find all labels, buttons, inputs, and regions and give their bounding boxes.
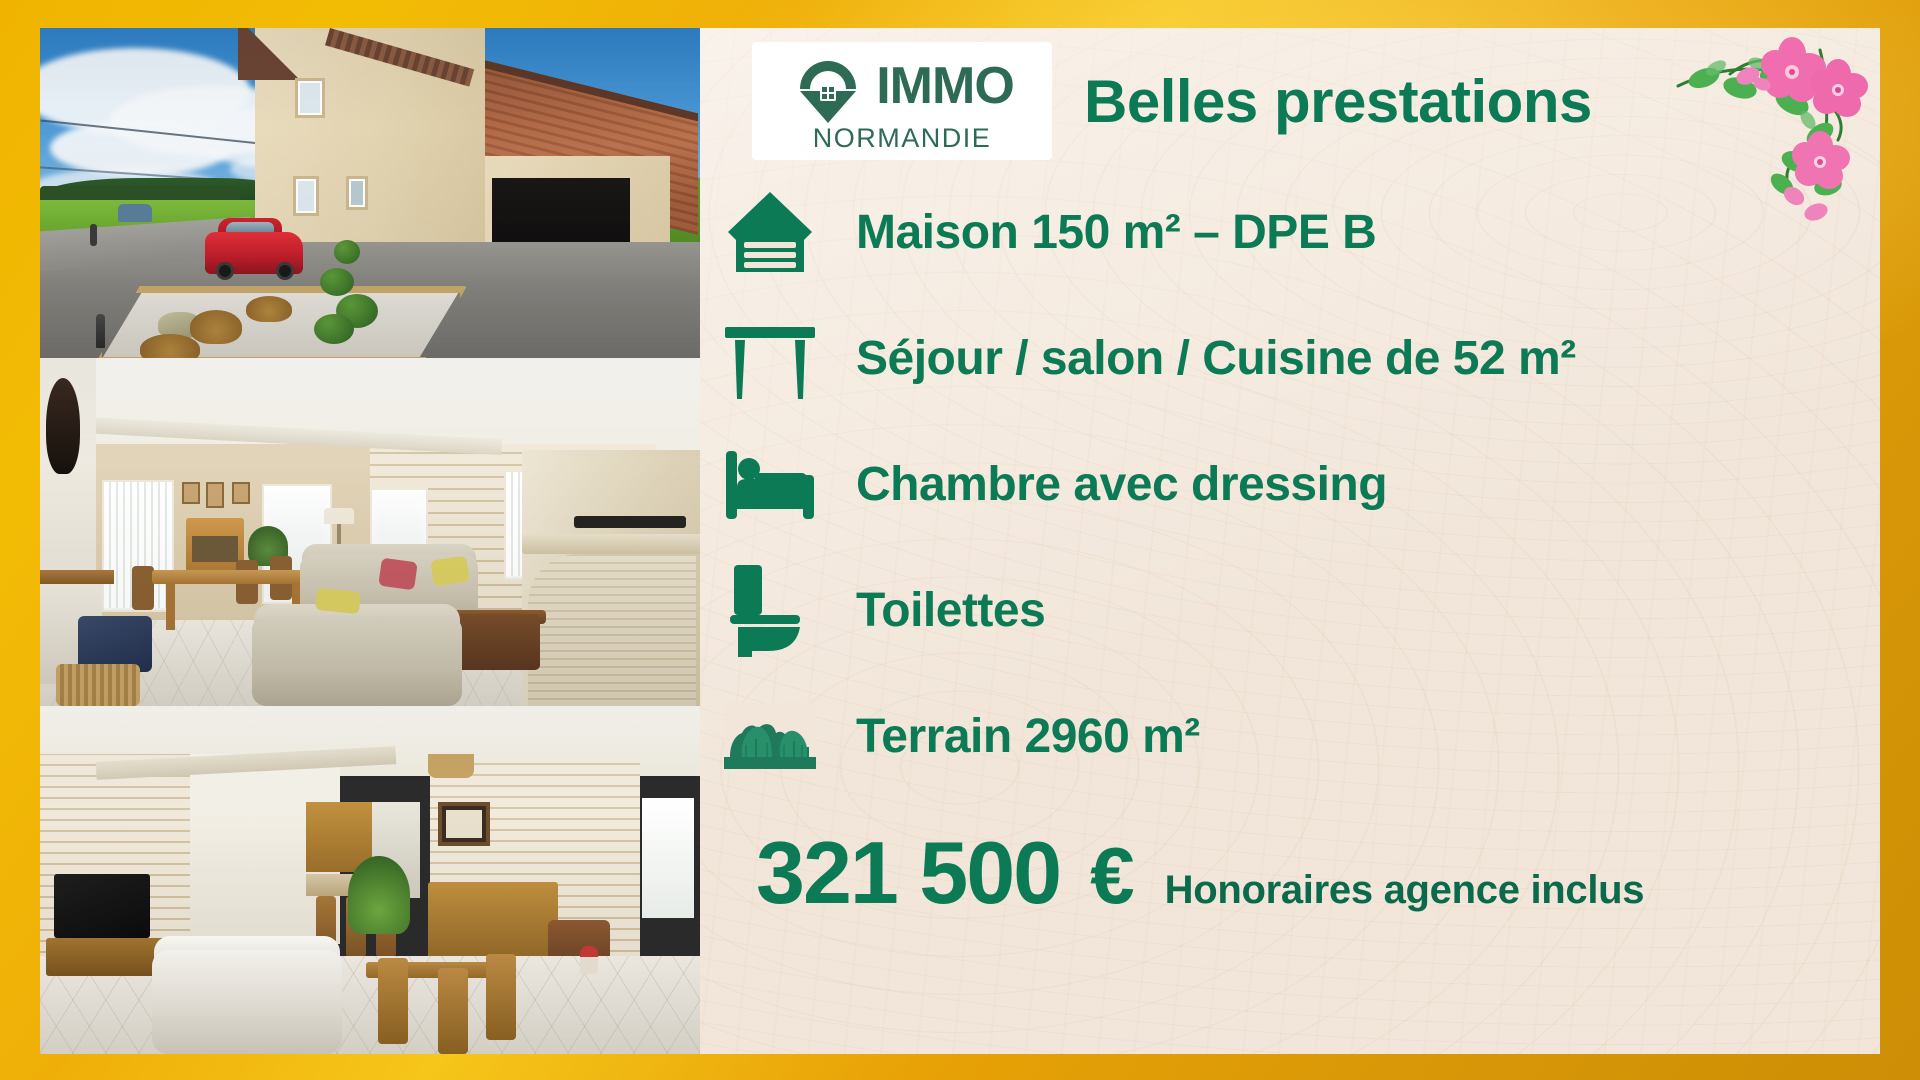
feature-label: Séjour / salon / Cuisine de 52 m²	[856, 331, 1576, 386]
photo-shading	[40, 28, 700, 358]
currency-symbol: €	[1090, 830, 1135, 922]
toilet-icon	[718, 562, 822, 658]
feature-row-land: Terrain 2960 m²	[718, 688, 1880, 784]
page-title: Belles prestations	[1084, 67, 1592, 136]
agency-logo[interactable]: IMMO NORMANDIE	[752, 42, 1052, 160]
feature-label: Chambre avec dressing	[856, 457, 1387, 512]
feature-row-toilet: Toilettes	[718, 562, 1880, 658]
feature-label: Maison 150 m² – DPE B	[856, 205, 1376, 260]
feature-row-living: Séjour / salon / Cuisine de 52 m²	[718, 310, 1880, 406]
real-estate-poster: IMMO NORMANDIE Belles prestations	[0, 0, 1920, 1080]
price-note: Honoraires agence inclus	[1165, 868, 1645, 913]
house-pin-icon	[790, 49, 866, 125]
living-room-photo	[40, 358, 700, 706]
open-living-area-photo	[40, 706, 700, 1054]
table-icon	[718, 310, 822, 406]
feature-list: Maison 150 m² – DPE B Séjour / salon / C…	[700, 184, 1880, 784]
feature-label: Toilettes	[856, 583, 1045, 638]
poster-inner-panel: IMMO NORMANDIE Belles prestations	[40, 28, 1880, 1054]
price-value: 321 500	[756, 822, 1060, 924]
bed-icon	[718, 436, 822, 532]
flower-decoration-icon	[1670, 28, 1880, 228]
photo-shading	[40, 706, 700, 1054]
details-panel: IMMO NORMANDIE Belles prestations	[700, 28, 1880, 1054]
feature-label: Terrain 2960 m²	[856, 709, 1200, 764]
logo-primary-text: IMMO	[876, 63, 1014, 110]
logo-secondary-text: NORMANDIE	[813, 123, 992, 154]
trees-icon	[718, 688, 822, 784]
house-exterior-photo	[40, 28, 700, 358]
house-icon	[718, 184, 822, 280]
feature-row-bedroom: Chambre avec dressing	[718, 436, 1880, 532]
photo-column	[40, 28, 700, 1054]
price-row: 321 500 € Honoraires agence inclus	[700, 822, 1880, 924]
photo-shading	[40, 358, 700, 706]
